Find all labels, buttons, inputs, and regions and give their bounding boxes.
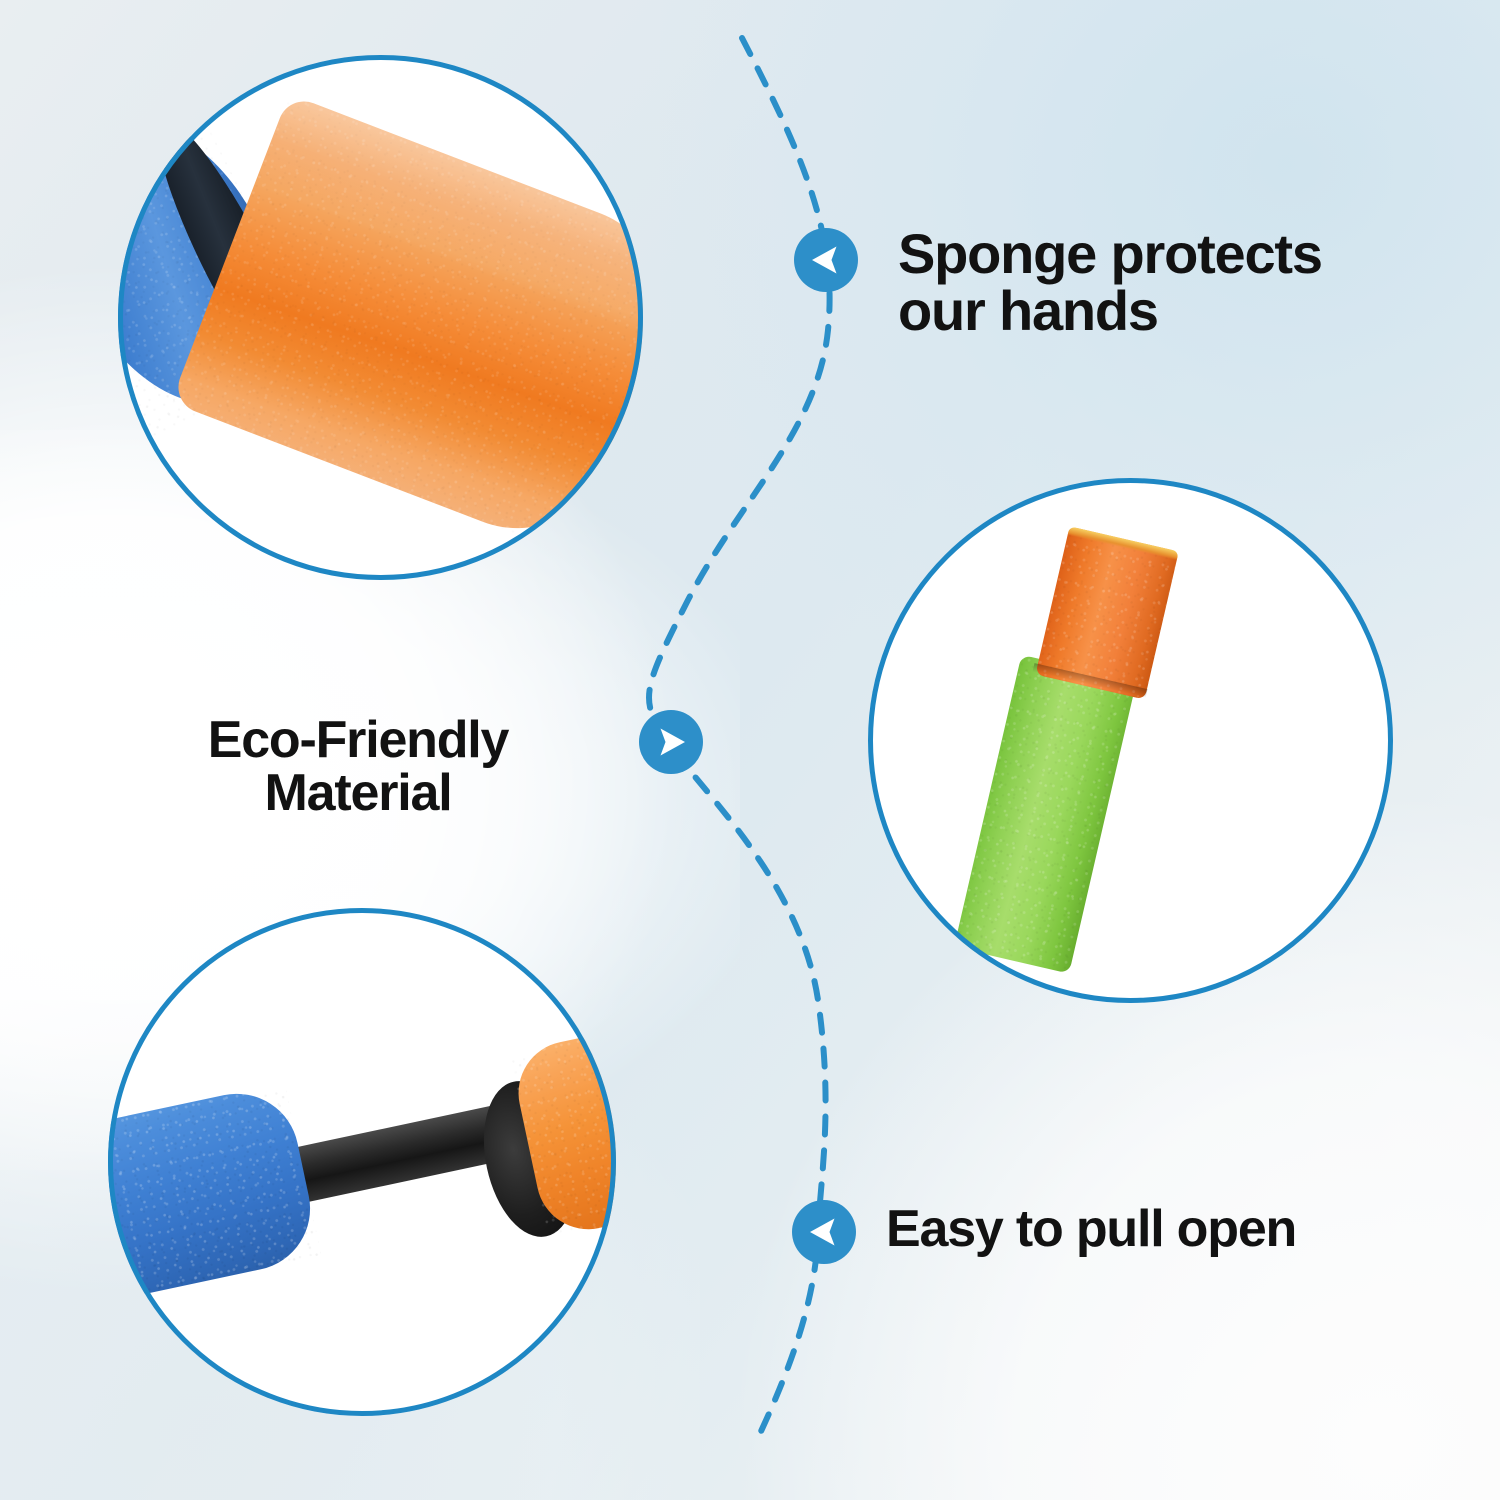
feature-label-pull-open: Easy to pull open bbox=[886, 1203, 1406, 1256]
marker-pull-open[interactable] bbox=[791, 1199, 857, 1265]
marker-eco[interactable] bbox=[638, 709, 704, 775]
feature-photo-pull-open bbox=[108, 908, 616, 1416]
feature-photo-eco bbox=[868, 478, 1393, 1003]
photo-clip-pull-open bbox=[108, 908, 616, 1416]
infographic-canvas: Sponge protects our hands Eco-Friendly M… bbox=[0, 0, 1500, 1500]
photo-clip-sponge bbox=[118, 55, 643, 580]
feature-label-eco: Eco-Friendly Material bbox=[158, 714, 558, 820]
photo-clip-eco bbox=[868, 478, 1393, 1003]
blue-foam-end bbox=[108, 1082, 322, 1311]
feature-photo-sponge bbox=[118, 55, 643, 580]
feature-label-sponge: Sponge protects our hands bbox=[898, 225, 1398, 339]
green-foam-tube bbox=[954, 655, 1136, 974]
arrow-right-icon bbox=[638, 709, 704, 775]
orange-foam-body bbox=[171, 94, 643, 556]
marker-sponge[interactable] bbox=[793, 227, 859, 293]
arrow-left-icon bbox=[793, 227, 859, 293]
arrow-left-icon bbox=[791, 1199, 857, 1265]
